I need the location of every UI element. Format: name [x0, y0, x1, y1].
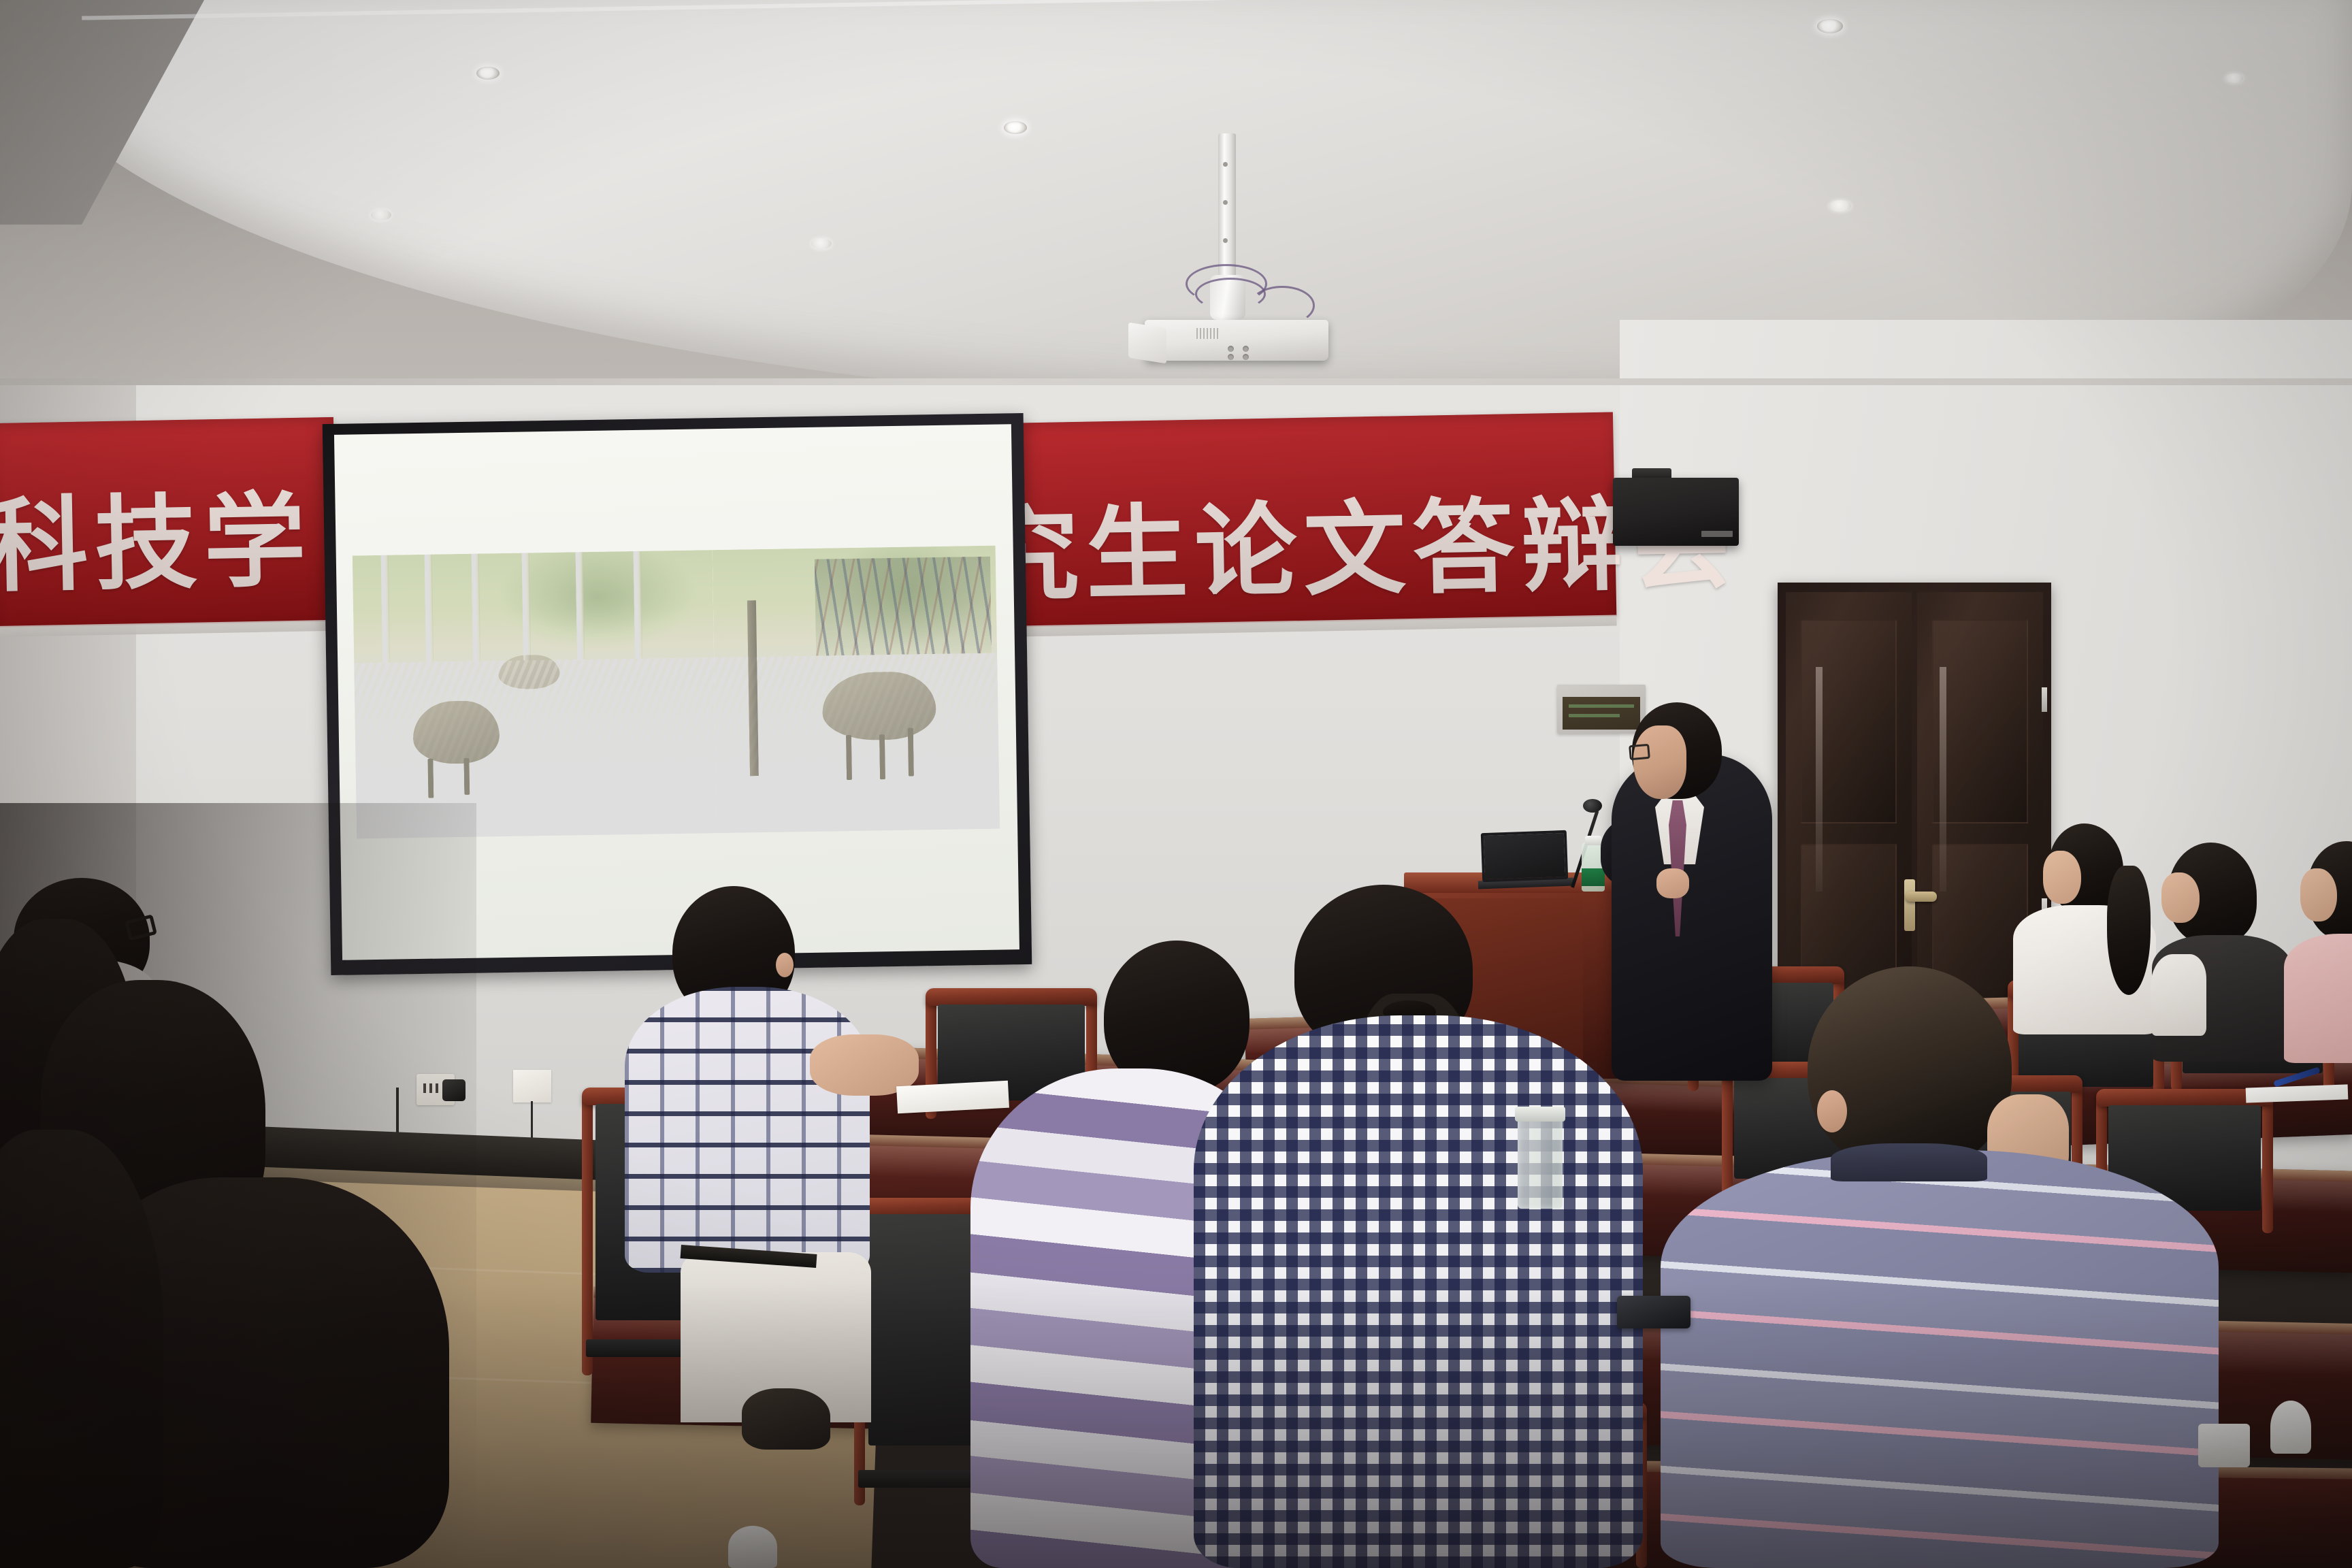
door-hinge: [2042, 687, 2047, 712]
downlight-icon: [1004, 121, 1027, 134]
laptop-screen[interactable]: [1481, 830, 1568, 882]
projector-indicator-icon: [1243, 346, 1249, 352]
downlight-icon: [371, 210, 391, 220]
conference-room-scene: 科技学 究生论文答辩会: [0, 0, 2352, 1568]
student-face: [2300, 868, 2337, 921]
downlight-icon: [811, 238, 832, 249]
projector-vent: [1196, 328, 1220, 339]
plaque-text-line: [1569, 704, 1634, 708]
downlight-icon: [476, 67, 500, 80]
audience-head-foreground-left: [0, 1130, 163, 1568]
projector-lens: [1128, 323, 1166, 364]
mount-screw: [1223, 200, 1228, 205]
projector-indicator-icon: [1228, 346, 1234, 352]
mount-screw: [1223, 238, 1228, 243]
eyeglasses-icon: [1629, 744, 1650, 761]
ceiling-wall-trim: [0, 378, 2352, 385]
boar-leg: [908, 728, 914, 777]
door-lock-plate: [1904, 879, 1915, 931]
collar: [1831, 1143, 1987, 1181]
projector-indicator-icon: [1243, 354, 1249, 360]
projector-indicator-icon: [1228, 354, 1234, 360]
projection-screen: [323, 413, 1032, 975]
plaque-text-line: [1569, 714, 1620, 717]
audience-torso-blue-pink-stripes: [1661, 1150, 2219, 1568]
wall-plaque: [1557, 685, 1646, 734]
boar-leg: [879, 734, 885, 780]
banner-left-text: 科技学: [0, 458, 314, 612]
boar-leg: [427, 758, 434, 798]
ceiling-projector: [1145, 320, 1328, 361]
bottle-cap: [1585, 836, 1601, 845]
speaker-brand-label: [1701, 531, 1733, 537]
presenter-hand: [1656, 868, 1689, 898]
chair-post: [1722, 1068, 1733, 1199]
door-highlight: [1940, 667, 1946, 892]
slide-photo-pair: [353, 545, 1000, 839]
student-ponytail: [2107, 866, 2151, 995]
student-face: [2043, 851, 2081, 904]
outlet-socket-holes-icon: [423, 1083, 438, 1093]
presenter-face: [1633, 725, 1686, 799]
banner-right: 究生论文答辩会: [1000, 412, 1616, 627]
audience-head-foreground-right-man: [1808, 966, 2012, 1171]
slide-photo-right: [713, 545, 1000, 833]
student-torso-pink-top: [2284, 934, 2352, 1063]
downlight-icon: [1829, 200, 1851, 212]
door-highlight: [1816, 667, 1823, 892]
boar-leg: [845, 735, 851, 781]
audience-shoe: [742, 1388, 830, 1450]
chair-post: [582, 1094, 593, 1375]
chair-top-rail: [926, 988, 1097, 1006]
downlight-icon: [1817, 19, 1843, 33]
microphone-icon[interactable]: [1583, 799, 1602, 813]
papers-and-pen[interactable]: [896, 1081, 1009, 1114]
boar-leg: [463, 758, 470, 795]
downlight-icon: [2225, 73, 2243, 83]
glass-thermos-jar[interactable]: [1518, 1113, 1563, 1209]
bottle-label: [1582, 868, 1605, 886]
banner-left: 科技学: [0, 417, 337, 627]
student-sleeve-white: [2151, 954, 2206, 1036]
thermos-lid: [1515, 1107, 1565, 1122]
plaque-inner: [1563, 697, 1640, 730]
door-handle-icon[interactable]: [1906, 892, 1937, 902]
white-cup[interactable]: [2270, 1401, 2311, 1454]
ear: [776, 953, 794, 977]
audience-torso-gingham-shirt: [1194, 1015, 1643, 1568]
chair-post: [2262, 1096, 2273, 1233]
screen-surface: [334, 424, 1019, 960]
white-cup-lid[interactable]: [728, 1526, 777, 1568]
student-face: [2161, 872, 2200, 923]
mobile-phone[interactable]: [1617, 1296, 1690, 1328]
mount-screw: [1223, 162, 1228, 167]
white-cup-lid[interactable]: [2198, 1424, 2250, 1467]
door-panel: [1801, 619, 1897, 823]
audience-torso-plaid-shirt: [625, 987, 870, 1273]
wall-junction-box: [513, 1070, 551, 1102]
ear: [1817, 1090, 1847, 1132]
power-plug: [442, 1079, 465, 1101]
slide-photo-left: [353, 550, 717, 839]
